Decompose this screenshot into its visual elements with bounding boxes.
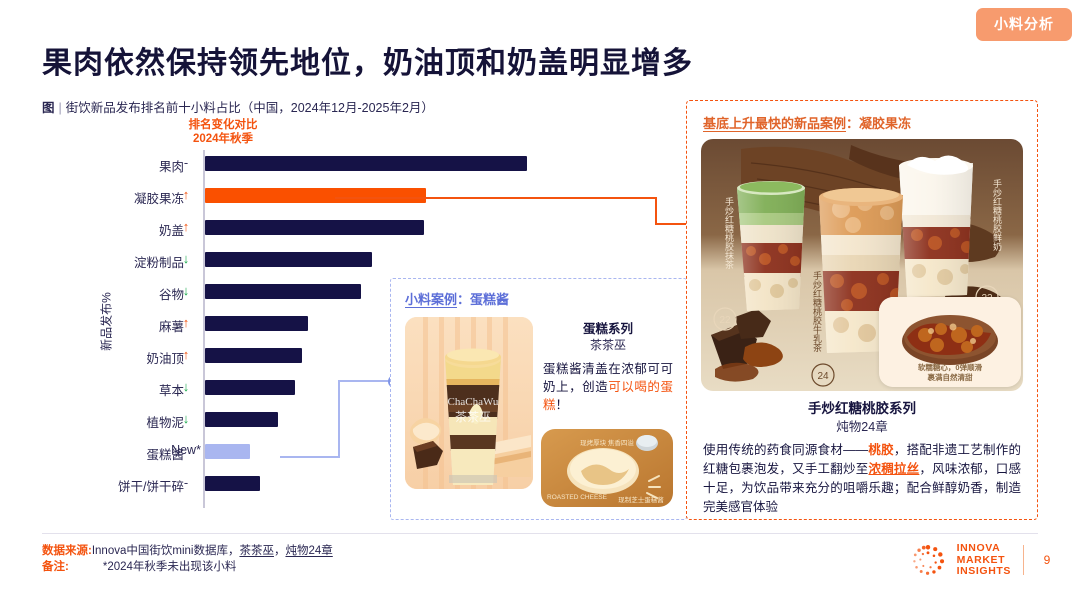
footer-note-line: 备注:*2024年秋季未出现该小料: [42, 559, 333, 575]
chart-row: 淀粉制品↓: [42, 246, 562, 278]
source-comma: ，: [274, 545, 286, 557]
cake-brand: 蛋糕系列: [543, 321, 673, 337]
case-panel-jelly-title: 基底上升最快的新品案例：凝胶果冻: [703, 113, 911, 132]
innova-logo-text: INNOVA MARKET INSIGHTS: [957, 543, 1011, 578]
note-label: 备注:: [42, 561, 69, 573]
photo-label-2: 手炒红糖桃胶牛乳茶: [812, 270, 822, 352]
case-panel-cake-sauce: 小料案例：蛋糕酱: [390, 278, 687, 520]
brand-logo: INNOVA MARKET INSIGHTS 9: [911, 543, 1058, 578]
case-panel-jelly-title-main: 基底上升最快的新品案例: [703, 116, 846, 131]
jelly-brand: 手炒红糖桃胶系列: [687, 397, 1037, 417]
chart-row-label: 奶油顶: [24, 348, 184, 367]
chart-row-label: 果肉: [24, 156, 184, 175]
connector-cake: [280, 378, 400, 460]
rank-change-header-line1: 排名变化对比: [138, 118, 308, 132]
jelly-description: 使用传统的药食同源食材——桃胶，搭配非遗工艺制作的红糖包裹泡发，又手工翻炒至浓稠…: [703, 441, 1021, 517]
connector-jelly-seg1: [335, 197, 657, 199]
chart-row-label: 凝胶果冻: [24, 188, 184, 207]
chart-row: 果肉-: [42, 150, 562, 182]
photo-label-3: 手炒红糖桃胶鲜奶: [992, 178, 1002, 252]
chart-row-label: 谷物: [24, 284, 184, 303]
rank-change-header: 排名变化对比 2024年秋季: [138, 118, 308, 146]
chart-bar: [205, 412, 278, 427]
cake-case-text: 蛋糕系列 茶茶巫 蛋糕酱清盖在浓郁可可奶上，创造可以喝的蛋糕！: [543, 321, 673, 414]
note-text: *2024年秋季未出现该小料: [103, 561, 237, 573]
logo-divider: [1023, 545, 1024, 575]
jelly-desc-hl1: 桃胶: [868, 443, 894, 457]
cake-description: 蛋糕酱清盖在浓郁可可奶上，创造可以喝的蛋糕！: [543, 360, 673, 414]
chart-bar: [205, 476, 260, 491]
chart-row-label: 淀粉制品: [24, 252, 184, 271]
caption-separator: |: [59, 101, 62, 115]
rank-change-marker-up: ↑: [173, 315, 199, 330]
svg-text:22: 22: [719, 315, 731, 326]
connector-cake-seg3: [338, 380, 394, 382]
rank-change-marker-down: ↓: [173, 283, 199, 298]
rank-change-marker-down: ↓: [173, 251, 199, 266]
chart-row-label: 奶盖: [24, 220, 184, 239]
footer-divider: [42, 533, 1038, 534]
dish-caption: 软糯糖心，0弹顺滑 裹满自然清甜: [879, 363, 1021, 383]
case-panel-jelly: 基底上升最快的新品案例：凝胶果冻: [686, 100, 1038, 520]
rank-change-header-line2: 2024年秋季: [138, 132, 308, 146]
svg-text:24: 24: [817, 371, 829, 382]
connector-cake-seg2: [338, 380, 340, 458]
jelly-desc-hl2: 浓稠拉丝: [868, 462, 919, 476]
rank-change-marker-up: ↑: [173, 219, 199, 234]
chart-bar: [205, 444, 250, 459]
logo-line3: INSIGHTS: [957, 566, 1011, 578]
dish-caption-line1: 软糯糖心，0弹顺滑: [879, 363, 1021, 373]
photo-label-1: 手炒红糖桃胶抹茶: [724, 196, 734, 269]
svg-text:ChaChaWu: ChaChaWu: [448, 396, 499, 408]
source-link-chachawu[interactable]: 茶茶巫: [239, 545, 274, 557]
case-panel-cake-title-rest: ：蛋糕酱: [457, 292, 509, 307]
caption-prefix: 图: [42, 101, 55, 115]
footer-source-line: 数据来源:Innova中国街饮mini数据库，茶茶巫，炖物24章: [42, 543, 333, 559]
badge-caption-left: ROASTED CHEESE: [547, 494, 608, 501]
svg-text:茶茶巫: 茶茶巫: [455, 409, 491, 424]
cake-drink-illustration: ChaChaWu 茶茶巫: [405, 317, 533, 489]
source-link-dunwu24[interactable]: 炖物24章: [285, 545, 332, 557]
badge-caption-right: 现制芝士蛋糕酱: [618, 495, 664, 504]
roasted-cheese-illustration: 现烤厚块 焦香四溢 ROASTED CHEESE 现制芝士蛋糕酱: [541, 429, 673, 507]
slide-root: 小料分析 果肉依然保持领先地位，奶油顶和奶盖明显增多 图|街饮新品发布排名前十小…: [0, 0, 1080, 608]
chart-bar: [205, 284, 361, 299]
logo-line1: INNOVA: [957, 543, 1011, 555]
chart-bar: [205, 348, 302, 363]
chart-row-label: 麻薯: [24, 316, 184, 335]
rank-change-marker-down: ↓: [173, 411, 199, 426]
caption-text: 街饮新品发布排名前十小料占比（中国，2024年12月-2025年2月）: [66, 101, 434, 115]
corner-tag: 小料分析: [976, 8, 1072, 41]
connector-cake-seg1: [280, 456, 340, 458]
source-text: Innova中国街饮mini数据库，: [92, 545, 240, 557]
badge-caption-top: 现烤厚块 焦香四溢: [580, 438, 634, 447]
rank-change-marker-flat: -: [173, 155, 199, 170]
rank-change-marker-up: ↑: [173, 187, 199, 202]
dish-caption-line2: 裹满自然清甜: [879, 373, 1021, 383]
cake-brand-sub: 茶茶巫: [543, 337, 673, 354]
jelly-brand-sub: 炖物24章: [687, 416, 1037, 435]
source-label: 数据来源:: [42, 545, 92, 557]
rank-change-marker-up: ↑: [173, 347, 199, 362]
chart-row-label: 草本: [24, 380, 184, 399]
cake-desc-post: ！: [556, 398, 569, 412]
cake-drink-photo: ChaChaWu 茶茶巫: [405, 317, 533, 489]
rank-change-marker-flat: -: [173, 475, 199, 490]
rank-change-marker-down: ↓: [173, 379, 199, 394]
chart-row-label: 植物泥: [24, 412, 184, 431]
connector-jelly: [335, 192, 695, 242]
connector-jelly-seg2: [655, 197, 657, 225]
chart-bar: [205, 156, 527, 171]
chart-bar: [205, 316, 308, 331]
jelly-desc-pre: 使用传统的药食同源食材——: [703, 443, 868, 457]
page-title: 果肉依然保持领先地位，奶油顶和奶盖明显增多: [42, 38, 693, 82]
innova-logo-icon: [911, 543, 945, 577]
case-panel-cake-title-main: 小料案例: [405, 292, 457, 307]
peach-gum-dish: 软糯糖心，0弹顺滑 裹满自然清甜: [879, 297, 1021, 387]
case-panel-jelly-title-rest: ：凝胶果冻: [846, 116, 911, 131]
roasted-cheese-badge: 现烤厚块 焦香四溢 ROASTED CHEESE 现制芝士蛋糕酱: [541, 429, 673, 507]
footer-source: 数据来源:Innova中国街饮mini数据库，茶茶巫，炖物24章 备注:*202…: [42, 543, 333, 575]
case-panel-cake-title: 小料案例：蛋糕酱: [405, 289, 509, 308]
chart-bar: [205, 252, 372, 267]
chart-row-label: 饼干/饼干碎: [24, 476, 184, 495]
page-number: 9: [1036, 553, 1058, 567]
chart-caption: 图|街饮新品发布排名前十小料占比（中国，2024年12月-2025年2月）: [42, 97, 434, 116]
